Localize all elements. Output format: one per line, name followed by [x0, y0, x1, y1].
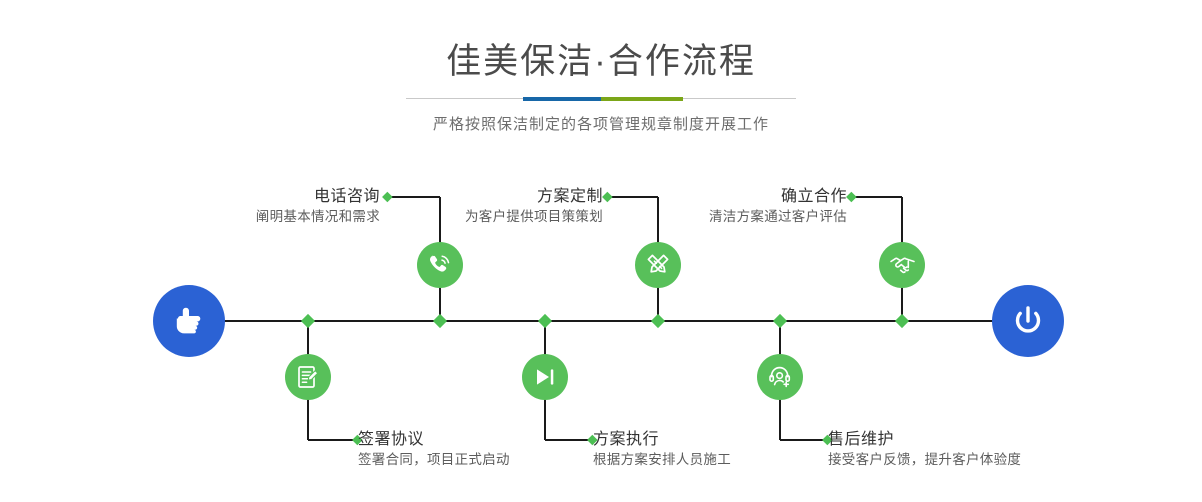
- handshake-icon: [889, 252, 916, 279]
- step-label-3: 方案定制 为客户提供项目策策划: [345, 187, 603, 227]
- step-node-sign[interactable]: [285, 354, 331, 400]
- phone-call-icon: [427, 252, 453, 278]
- step-desc: 接受客户反馈，提升客户体验度: [828, 452, 1021, 467]
- spine-diamond: [773, 314, 787, 328]
- timeline-connectors: [0, 0, 1202, 502]
- step-title: 售后维护: [828, 430, 1108, 450]
- pointing-hand-icon: [169, 301, 209, 341]
- step-label-1: 电话咨询 阐明基本情况和需求: [120, 187, 380, 227]
- step-title: 方案执行: [593, 430, 853, 450]
- step-label-5: 确立合作 清洁方案通过客户评估: [590, 187, 847, 227]
- step-label-2: 签署协议 签署合同，项目正式启动: [358, 430, 618, 470]
- step-node-aftercare[interactable]: [757, 354, 803, 400]
- spine-diamond: [895, 314, 909, 328]
- step-label-4: 方案执行 根据方案安排人员施工: [593, 430, 853, 470]
- power-icon: [1008, 301, 1048, 341]
- step-node-design[interactable]: [635, 242, 681, 288]
- step-node-execute[interactable]: [522, 354, 568, 400]
- step-title: 方案定制: [345, 187, 603, 207]
- spine-diamond: [433, 314, 447, 328]
- step-desc: 根据方案安排人员施工: [593, 452, 731, 467]
- spine-diamond: [651, 314, 665, 328]
- document-edit-icon: [295, 364, 321, 390]
- label-diamond: [846, 192, 857, 203]
- step-node-handshake[interactable]: [879, 242, 925, 288]
- play-next-icon: [532, 364, 558, 390]
- pencil-design-icon: [645, 252, 671, 278]
- start-node[interactable]: [153, 285, 225, 357]
- step-title: 电话咨询: [120, 187, 380, 207]
- customer-support-icon: [767, 364, 793, 390]
- step-label-6: 售后维护 接受客户反馈，提升客户体验度: [828, 430, 1108, 470]
- step-title: 确立合作: [590, 187, 847, 207]
- step-desc: 清洁方案通过客户评估: [709, 209, 847, 224]
- step-desc: 为客户提供项目策策划: [465, 209, 603, 224]
- spine-diamond: [301, 314, 315, 328]
- infographic-root: 佳美保洁·合作流程 严格按照保洁制定的各项管理规章制度开展工作: [0, 0, 1202, 502]
- step-desc: 签署合同，项目正式启动: [358, 452, 510, 467]
- step-title: 签署协议: [358, 430, 618, 450]
- end-node[interactable]: [992, 285, 1064, 357]
- spine-diamond: [538, 314, 552, 328]
- step-node-phone[interactable]: [417, 242, 463, 288]
